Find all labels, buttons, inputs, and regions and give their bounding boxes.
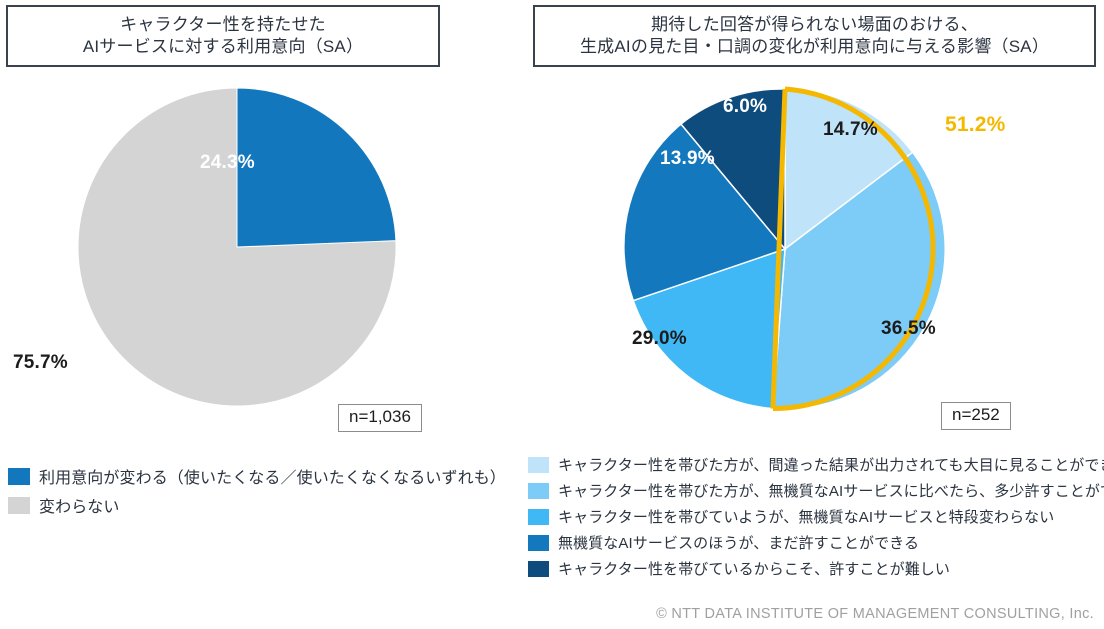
copyright-notice: © NTT DATA INSTITUTE OF MANAGEMENT CONSU… — [656, 606, 1094, 622]
right-pie-chart — [620, 84, 950, 414]
legend-item-label: 変わらない — [39, 493, 120, 517]
legend-item-label: キャラクター性を帯びていようが、無機質なAIサービスと特段変わらない — [558, 506, 1054, 527]
right-pie-value-1: 14.7% — [823, 119, 878, 141]
legend-swatch-icon — [528, 561, 549, 577]
legend-item[interactable]: 無機質なAIサービスのほうが、まだ許すことができる — [528, 532, 1104, 553]
right-pie-highlight-value: 51.2% — [945, 113, 1006, 137]
legend-swatch-icon — [528, 457, 549, 473]
legend-item-label: キャラクター性を帯びた方が、間違った結果が出力されても大目に見ることができる — [558, 454, 1104, 475]
legend-item-label: 無機質なAIサービスのほうが、まだ許すことができる — [558, 532, 919, 553]
right-chart-title-line-2: 生成AIの見た目・口調の変化が利用意向に与える影響（SA） — [580, 36, 1049, 58]
legend-swatch-icon — [528, 483, 549, 499]
left-chart-legend: 利用意向が変わる（使いたくなる／使いたくなくなるいずれも） 変わらない — [8, 464, 506, 522]
left-pie-svg — [78, 88, 396, 406]
left-sample-size-badge: n=1,036 — [338, 404, 422, 432]
legend-item[interactable]: 利用意向が変わる（使いたくなる／使いたくなくなるいずれも） — [8, 464, 506, 488]
right-pie-value-2: 36.5% — [881, 318, 936, 340]
legend-item-label: 利用意向が変わる（使いたくなる／使いたくなくなるいずれも） — [39, 464, 506, 488]
left-pie-value-changes: 24.3% — [200, 152, 255, 174]
legend-item[interactable]: キャラクター性を帯びているからこそ、許すことが難しい — [528, 558, 1104, 579]
left-chart-title: キャラクター性を持たせた AIサービスに対する利用意向（SA） — [6, 5, 440, 67]
legend-item[interactable]: 変わらない — [8, 493, 506, 517]
legend-item[interactable]: キャラクター性を帯びた方が、間違った結果が出力されても大目に見ることができる — [528, 454, 1104, 475]
legend-swatch-icon — [8, 497, 30, 514]
right-chart-title: 期待した回答が得られない場面のおける、 生成AIの見た目・口調の変化が利用意向に… — [533, 5, 1096, 67]
legend-swatch-icon — [528, 509, 549, 525]
legend-item-label: キャラクター性を帯びた方が、無機質なAIサービスに比べたら、多少許すことができる — [558, 480, 1104, 501]
right-chart-legend: キャラクター性を帯びた方が、間違った結果が出力されても大目に見ることができる キ… — [528, 454, 1104, 584]
legend-item[interactable]: キャラクター性を帯びていようが、無機質なAIサービスと特段変わらない — [528, 506, 1104, 527]
left-pie-chart — [78, 88, 396, 406]
legend-swatch-icon — [528, 535, 549, 551]
right-pie-value-4: 13.9% — [660, 148, 715, 170]
right-pie-value-3: 29.0% — [632, 328, 687, 350]
legend-swatch-icon — [8, 468, 30, 485]
right-sample-size-badge: n=252 — [941, 402, 1011, 430]
right-pie-value-5: 6.0% — [723, 96, 767, 118]
left-chart-panel: キャラクター性を持たせた AIサービスに対する利用意向（SA） 24.3% 75… — [0, 0, 520, 629]
right-pie-svg — [620, 84, 950, 414]
left-chart-title-line-1: キャラクター性を持たせた — [120, 14, 326, 36]
legend-item-label: キャラクター性を帯びているからこそ、許すことが難しい — [558, 558, 950, 579]
legend-item[interactable]: キャラクター性を帯びた方が、無機質なAIサービスに比べたら、多少許すことができる — [528, 480, 1104, 501]
left-pie-value-no-change: 75.7% — [13, 352, 68, 374]
right-chart-title-line-1: 期待した回答が得られない場面のおける、 — [651, 14, 978, 36]
left-pie-slice-changes — [237, 88, 396, 247]
left-chart-title-line-2: AIサービスに対する利用意向（SA） — [83, 36, 363, 58]
